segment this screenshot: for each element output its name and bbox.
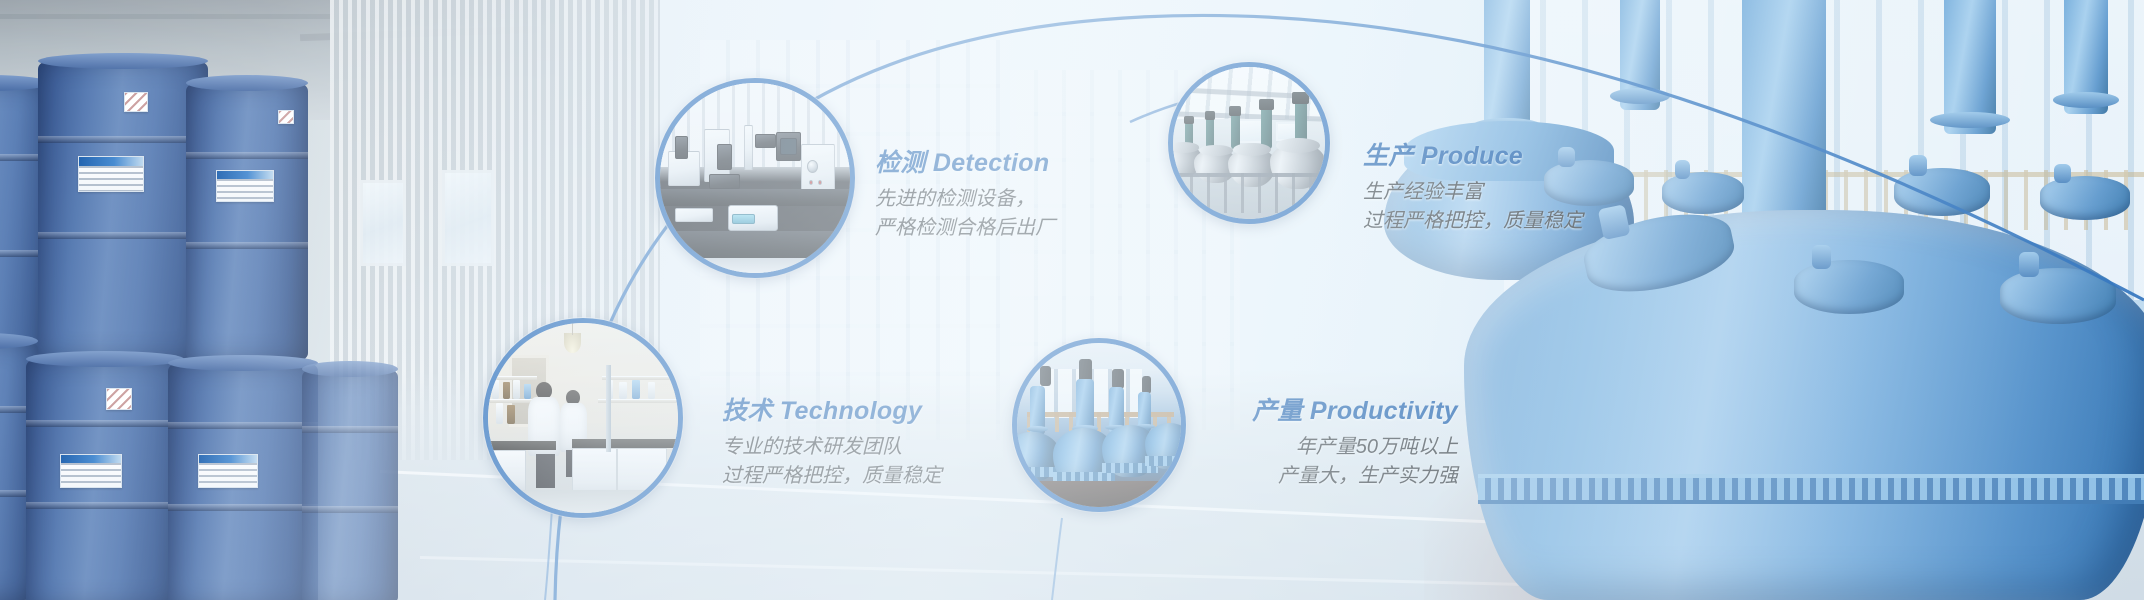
label-header [199,455,257,463]
lab-instrument-head [755,134,776,147]
lab-microscope [675,136,688,159]
vessel-floor-shadow [1017,481,1181,507]
feature-heading-technology: 技术 Technology [722,398,942,426]
lab-bench-upper [660,189,850,206]
agitator-shaft [1944,0,1996,134]
barrel-rim [186,75,308,91]
feature-text-produce: 生产 Produce 生产经验丰富过程严格把控，质量稳定 [1363,143,1583,236]
lab-cabinet [488,450,526,492]
feature-desc-line2: 严格检测合格后出厂 [875,217,1055,239]
feature-desc-technology: 专业的技术研发团队过程严格把控，质量稳定 [722,433,942,492]
feature-desc-line1: 年产量50万吨以上 [1296,436,1458,458]
label-body [199,463,257,487]
feature-desc-line1: 专业的技术研发团队 [722,436,902,458]
tank-lid [1233,143,1272,156]
vessel-column [1076,379,1094,435]
wall-window [442,170,494,266]
feature-heading-detection: 检测 Detection [875,150,1055,178]
barrel-hazard-label [124,92,148,112]
reagent-bottle [648,382,656,399]
feature-desc-productivity: 年产量50万吨以上产量大，生产实力强 [1168,433,1458,492]
monitor-screen [780,138,797,155]
lab-bench-lower [660,231,850,258]
reagent-bottle [524,384,531,399]
feature-text-detection: 检测 Detection 先进的检测设备，严格检测合格后出厂 [875,150,1055,243]
lab-floor [488,490,678,513]
label-header [79,157,143,166]
barrel [38,60,208,360]
fume-hood-post [606,365,612,452]
feature-desc-line2: 过程严格把控，质量稳定 [1363,210,1583,232]
barrel-ring [302,426,398,433]
lab-counter [572,439,678,449]
photo-inner [488,323,678,513]
barrel-ring [186,152,308,159]
vessel-nozzle [1894,168,1990,216]
barrel [302,368,398,600]
reagent-bottle [619,382,627,399]
precision-scale [728,205,777,232]
researcher-legs [536,454,555,488]
barrel-product-label [78,156,144,192]
barrel-ring [38,136,208,143]
tank-motor [1261,107,1272,150]
barrel-ring [186,242,308,249]
barrel-product-label [60,454,122,488]
feature-desc-detection: 先进的检测设备，严格检测合格后出厂 [875,185,1055,244]
label-header [217,171,273,179]
reagent-bottle [632,380,640,399]
label-body [217,179,273,201]
barrel-product-label [216,170,274,202]
feature-text-technology: 技术 Technology 专业的技术研发团队过程严格把控，质量稳定 [722,398,942,491]
label-body [79,166,143,191]
photo-circle-detection[interactable] [655,78,855,278]
barrel-rim [26,351,184,367]
barrel [168,362,318,600]
tank-lid [1276,138,1320,154]
vessel-nozzle [2040,176,2130,220]
company-strength-banner: 检测 Detection 先进的检测设备，严格检测合格后出厂 生产 Produc… [0,0,2144,600]
barrel-ring [168,422,318,429]
tank-lid [1199,145,1233,156]
photo-inner [1017,343,1181,507]
vessel-nozzle [2000,268,2116,324]
feature-heading-productivity: 产量 Productivity [1168,398,1458,426]
vessel-motor [1112,369,1123,389]
vessel-column [1030,386,1045,435]
instrument-button [809,180,813,185]
blue-reactor-vessels [1424,0,2144,600]
safety-railing [1173,173,1325,213]
feature-desc-line2: 产量大，生产实力强 [1278,465,1458,487]
feature-text-productivity: 产量 Productivity 年产量50万吨以上产量大，生产实力强 [1168,398,1458,491]
reagent-bottle [507,405,515,424]
barrel-rim [168,355,318,371]
barrel-ring [168,504,318,511]
photo-inner [660,83,850,273]
reagent-bottle [503,382,510,399]
lab-tray [675,208,713,221]
photo-inner [1173,67,1325,219]
feature-desc-line2: 过程严格把控，质量稳定 [722,465,942,487]
barrel-rim [302,361,398,377]
reagent-shelf [602,376,678,380]
agitator-shaft [1484,0,1530,140]
label-body [279,111,293,123]
instrument-button [818,180,822,185]
barrel-ring [26,502,184,509]
label-body [125,93,147,111]
barrel-rim [38,53,208,69]
photo-circle-technology[interactable] [483,318,683,518]
barrel-hazard-label [106,388,132,410]
vessel-motor [1142,376,1152,394]
photo-circle-productivity[interactable] [1012,338,1186,512]
scale-display [732,214,755,224]
barrel-ring [302,506,398,513]
vessel-bolt-flange [1478,474,2144,504]
instrument-dial [807,160,818,173]
lab-instrument [709,174,739,189]
agitator-shaft [1620,0,1660,110]
ceiling-lamp [564,333,581,354]
reagent-bottle [513,380,521,399]
label-header [61,455,121,463]
lab-floor [660,258,850,273]
barrel [186,82,308,362]
label-body [107,389,131,409]
lab-microscope [717,144,732,171]
blue-chemical-barrels [0,60,400,600]
barrel-ring [26,420,184,427]
label-body [61,463,121,487]
feature-heading-produce: 生产 Produce [1363,143,1583,171]
tank-motor [1231,113,1240,149]
reagent-bottle [496,403,504,424]
lab-stand [744,125,754,171]
feature-desc-line1: 生产经验丰富 [1363,181,1483,203]
agitator-shaft [2064,0,2108,114]
barrel-hazard-label [278,110,294,124]
vessel-motor [1040,366,1051,386]
vessel-nozzle [1662,172,1744,214]
barrel-ring [38,232,208,239]
agitator-shaft [1742,0,1826,234]
feature-desc-produce: 生产经验丰富过程严格把控，质量稳定 [1363,178,1583,237]
photo-circle-produce[interactable] [1168,62,1330,224]
barrel-product-label [198,454,258,488]
reagent-bottle [492,380,500,399]
feature-desc-line1: 先进的检测设备， [875,188,1035,210]
vessel-nozzle [1794,260,1904,314]
lab-counter [488,441,556,451]
barrel [26,358,184,600]
tank-lid [1173,142,1199,152]
